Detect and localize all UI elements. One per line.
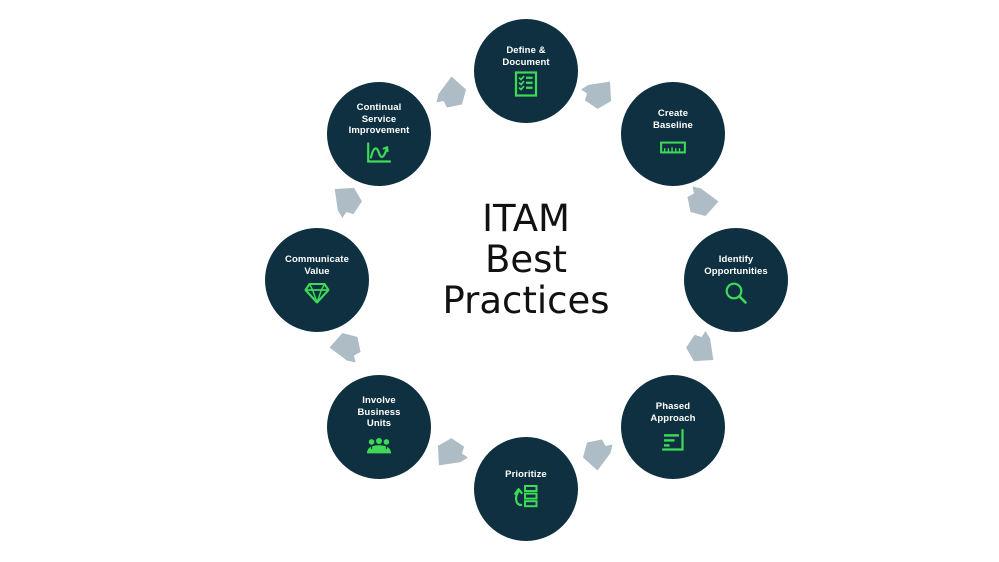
diamond-gem-icon <box>304 280 330 306</box>
node-label: Prioritize <box>476 469 576 481</box>
arrow-define-to-baseline <box>570 65 627 122</box>
node-label: Identify Opportunities <box>686 254 786 277</box>
stepped-bars-icon <box>660 427 686 453</box>
node-prioritize[interactable]: Prioritize <box>474 437 578 541</box>
magnifier-icon <box>723 280 749 306</box>
node-label: Define & Document <box>476 45 576 68</box>
arrow-phased-to-prioritize <box>578 434 618 474</box>
people-group-icon <box>366 433 392 459</box>
reorder-list-icon <box>513 483 539 509</box>
arrow-prioritize-to-involve <box>423 426 480 483</box>
node-continual-service-improvement[interactable]: Continual Service Improvement <box>327 82 431 186</box>
node-define-document[interactable]: Define & Document <box>474 19 578 123</box>
node-label: Involve Business Units <box>329 395 429 430</box>
page-title-line-2: Best <box>396 239 656 280</box>
ruler-icon <box>660 134 686 160</box>
node-involve-business-units[interactable]: Involve Business Units <box>327 375 431 479</box>
page-title-line-3: Practices <box>396 280 656 321</box>
checklist-clipboard-icon <box>513 71 539 97</box>
node-label: Communicate Value <box>267 254 367 277</box>
node-create-baseline[interactable]: Create Baseline <box>621 82 725 186</box>
node-label: Create Baseline <box>623 108 723 131</box>
trend-chart-icon <box>366 140 392 166</box>
node-communicate-value[interactable]: Communicate Value <box>265 228 369 332</box>
arrow-continual-to-define <box>431 73 471 113</box>
arrow-baseline-to-identify <box>682 181 722 221</box>
node-phased-approach[interactable]: Phased Approach <box>621 375 725 479</box>
node-label: Continual Service Improvement <box>329 102 429 137</box>
diagram-canvas: ITAM Best Practices Define & Document Cr… <box>0 0 999 562</box>
page-title: ITAM Best Practices <box>396 198 656 321</box>
arrow-involve-to-communicate <box>326 328 366 368</box>
node-identify-opportunities[interactable]: Identify Opportunities <box>684 228 788 332</box>
page-title-line-1: ITAM <box>396 198 656 239</box>
node-label: Phased Approach <box>623 401 723 424</box>
